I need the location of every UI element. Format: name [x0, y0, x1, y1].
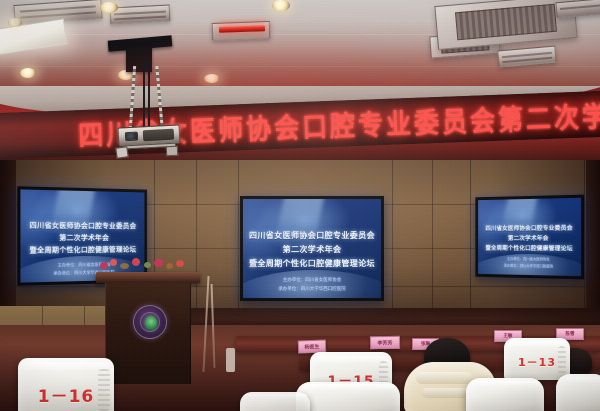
downlight: [8, 18, 22, 27]
projection-screen-center: 四川省女医师协会口腔专业委员会 第二次学术年会 暨全周期个性化口腔健康管理论坛 …: [240, 196, 384, 301]
ceiling-light-panel: [0, 18, 68, 56]
downlight: [100, 2, 118, 13]
screen-left-line3: 暨全周期个性化口腔健康管理论坛: [20, 245, 144, 256]
name-card-text: 杨医生: [299, 343, 325, 351]
projection-screen-right: 四川省女医师协会口腔专业委员会 第二次学术年会 暨全周期个性化口腔健康管理论坛 …: [475, 195, 584, 280]
downlight: [272, 0, 290, 11]
downlight: [204, 74, 220, 83]
chair-seat: 1－13: [504, 338, 570, 380]
conference-hall-photo: 四川省女医师协会口腔专业委员会第二次学术年: [0, 0, 600, 411]
projector-bracket: [115, 146, 128, 159]
name-card-text: 陈雪: [557, 331, 583, 337]
downlight: [20, 68, 36, 78]
ceiling-vent: [110, 4, 171, 24]
chair-seat: [556, 374, 600, 411]
projector-cable: [148, 60, 150, 128]
chair-seat: [296, 382, 400, 411]
ceiling-vent: [497, 46, 556, 68]
ceiling: [0, 0, 600, 96]
ceiling-vent: [212, 21, 271, 41]
screen-right-line2: 第二次学术年会: [478, 233, 581, 242]
ceiling-ac-unit: [434, 0, 577, 50]
wall-shadow-band: [586, 160, 600, 310]
ceiling-ac-unit: [429, 32, 500, 59]
screen-center-line1: 四川省女医师协会口腔专业委员会: [243, 230, 381, 241]
screen-center-line3: 暨全周期个性化口腔健康管理论坛: [243, 258, 381, 269]
name-card-text: 李芳芳: [371, 339, 399, 346]
led-banner: 四川省女医师协会口腔专业委员会第二次学术年: [0, 90, 600, 159]
chair-number: 1－13: [504, 354, 570, 370]
podium-emblem: [133, 305, 167, 339]
screen-left-line1: 四川省女医师协会口腔专业委员会: [20, 220, 144, 231]
wall-shadow-band: [0, 160, 16, 310]
screen-left-line2: 第二次学术年会: [20, 233, 144, 243]
screen-center-sub2: 承办单位：四川大学华西口腔医院: [243, 286, 381, 292]
projector-mount-plate: [108, 35, 173, 52]
chair-seat: [240, 392, 310, 411]
chair-seat: 1－16: [18, 358, 114, 411]
screen-right-line1: 四川省女医师协会口腔专业委员会: [478, 223, 581, 233]
projector-bracket: [166, 146, 179, 157]
chair-number: 1－16: [18, 382, 114, 407]
screen-right-line3: 暨全周期个性化口腔健康管理论坛: [478, 243, 581, 253]
ceiling-vent: [13, 0, 102, 25]
projector-lens: [125, 132, 138, 142]
banner-wall: 四川省女医师协会口腔专业委员会第二次学术年: [0, 86, 600, 170]
ceiling-red-light: [219, 25, 265, 33]
ceiling-vent: [555, 0, 600, 18]
ceiling-red-light: [218, 25, 266, 34]
chair-seat: [466, 378, 544, 411]
name-card: 李芳芳: [370, 336, 400, 350]
screen-center-sub1: 主办单位：四川省女医师协会: [243, 277, 381, 283]
projector-cable: [143, 60, 145, 130]
screen-center-line2: 第二次学术年会: [243, 244, 381, 255]
podium-cable: [226, 348, 235, 372]
